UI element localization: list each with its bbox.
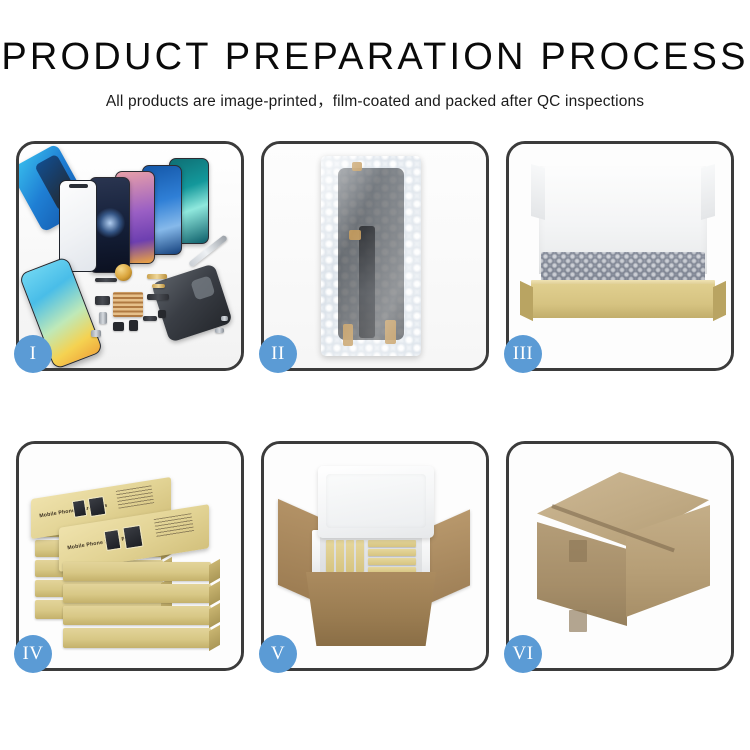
spare-part-icon [221,316,228,321]
step-badge-3: III [504,335,542,373]
stacked-box-icon [63,628,211,648]
spare-part-icon [129,320,138,331]
process-step-panel-4: Mobile Phone Spare Parts Mobile Phone Sp… [16,441,244,671]
step-badge-1: I [14,335,52,373]
step-badge-4: IV [14,635,52,673]
stacked-box-icon [63,606,211,625]
page-subtitle: All products are image-printed，film-coat… [0,89,750,111]
tape-piece-icon [385,320,396,344]
carton-body-icon [306,572,436,646]
yellow-box-icon [326,540,334,572]
process-step-panel-1: I Mobile phone LCD screens, tempered gla… [16,141,244,371]
box-window-icon [104,529,122,551]
step-badge-6: VI [504,635,542,673]
step-6-image [509,444,731,668]
process-step-grid: I Mobile phone LCD screens, tempered gla… [16,141,734,679]
step-5-image [264,444,486,668]
carton-tape-icon [569,610,587,632]
step-3-caption: Bubble-wrapped units packed into a yello… [509,144,510,145]
spare-part-icon [91,330,101,337]
process-step-panel-3: III Bubble-wrapped units packed into a y… [506,141,734,371]
spare-part-icon [158,310,166,318]
stacked-box-icon [63,562,211,581]
step-2-image [264,144,486,368]
process-step-panel-5: V Yellow boxes loaded into a white foam … [261,441,489,671]
step-1-image [19,144,241,368]
spare-part-icon [147,294,169,300]
spare-part-icon [99,312,107,324]
yellow-box-icon [368,540,416,547]
yellow-box-icon [356,540,364,572]
process-step-panel-6: VI Final brown corrugated carton taped a… [506,441,734,671]
box-window-icon [122,525,143,550]
gold-coil-part-icon [115,264,132,281]
step-5-caption: Yellow boxes loaded into a white foam co… [264,444,265,445]
spare-part-icon [95,296,110,305]
copper-shield-part-icon [113,292,143,317]
page-title: PRODUCT PREPARATION PROCESS [0,38,750,78]
carton-tape-icon [569,540,587,562]
step-4-caption: Sealed kraft retail boxes stacked in lay… [19,444,20,445]
step-3-image [509,144,731,368]
spare-part-icon [143,316,157,321]
step-6-caption: Final brown corrugated carton taped and … [509,444,510,445]
foam-cooler-lid-icon [318,466,434,538]
tape-piece-icon [343,324,353,346]
step-2-caption: Single LCD screen assembly sealed inside… [264,144,265,145]
tape-piece-icon [352,162,362,171]
wrapped-flex-cable-icon [359,226,375,338]
spare-part-icon [215,328,224,333]
step-badge-2: II [259,335,297,373]
bubble-wrap-bag-icon [321,156,421,356]
box-stack-icon: Mobile Phone Spare Parts Mobile Phone Sp… [29,464,237,654]
step-1-caption: Mobile phone LCD screens, tempered glass… [19,144,20,145]
page-header: PRODUCT PREPARATION PROCESS All products… [0,0,750,111]
process-step-panel-2: II Single LCD screen assembly sealed ins… [261,141,489,371]
yellow-box-icon [336,540,344,572]
step-badge-5: V [259,635,297,673]
spare-part-icon [147,274,167,279]
tape-piece-icon [349,230,361,240]
spare-part-icon [152,284,165,288]
box-window-icon [88,496,107,517]
yellow-box-icon [346,540,354,572]
stacked-box-icon [63,584,211,603]
spare-part-icon [95,278,117,282]
yellow-box-icon [368,558,416,565]
step-4-image: Mobile Phone Spare Parts Mobile Phone Sp… [19,444,241,668]
yellow-box-icon [368,549,416,556]
box-window-icon [72,499,87,518]
spare-part-icon [113,322,124,331]
kraft-box-front-icon [531,284,715,318]
